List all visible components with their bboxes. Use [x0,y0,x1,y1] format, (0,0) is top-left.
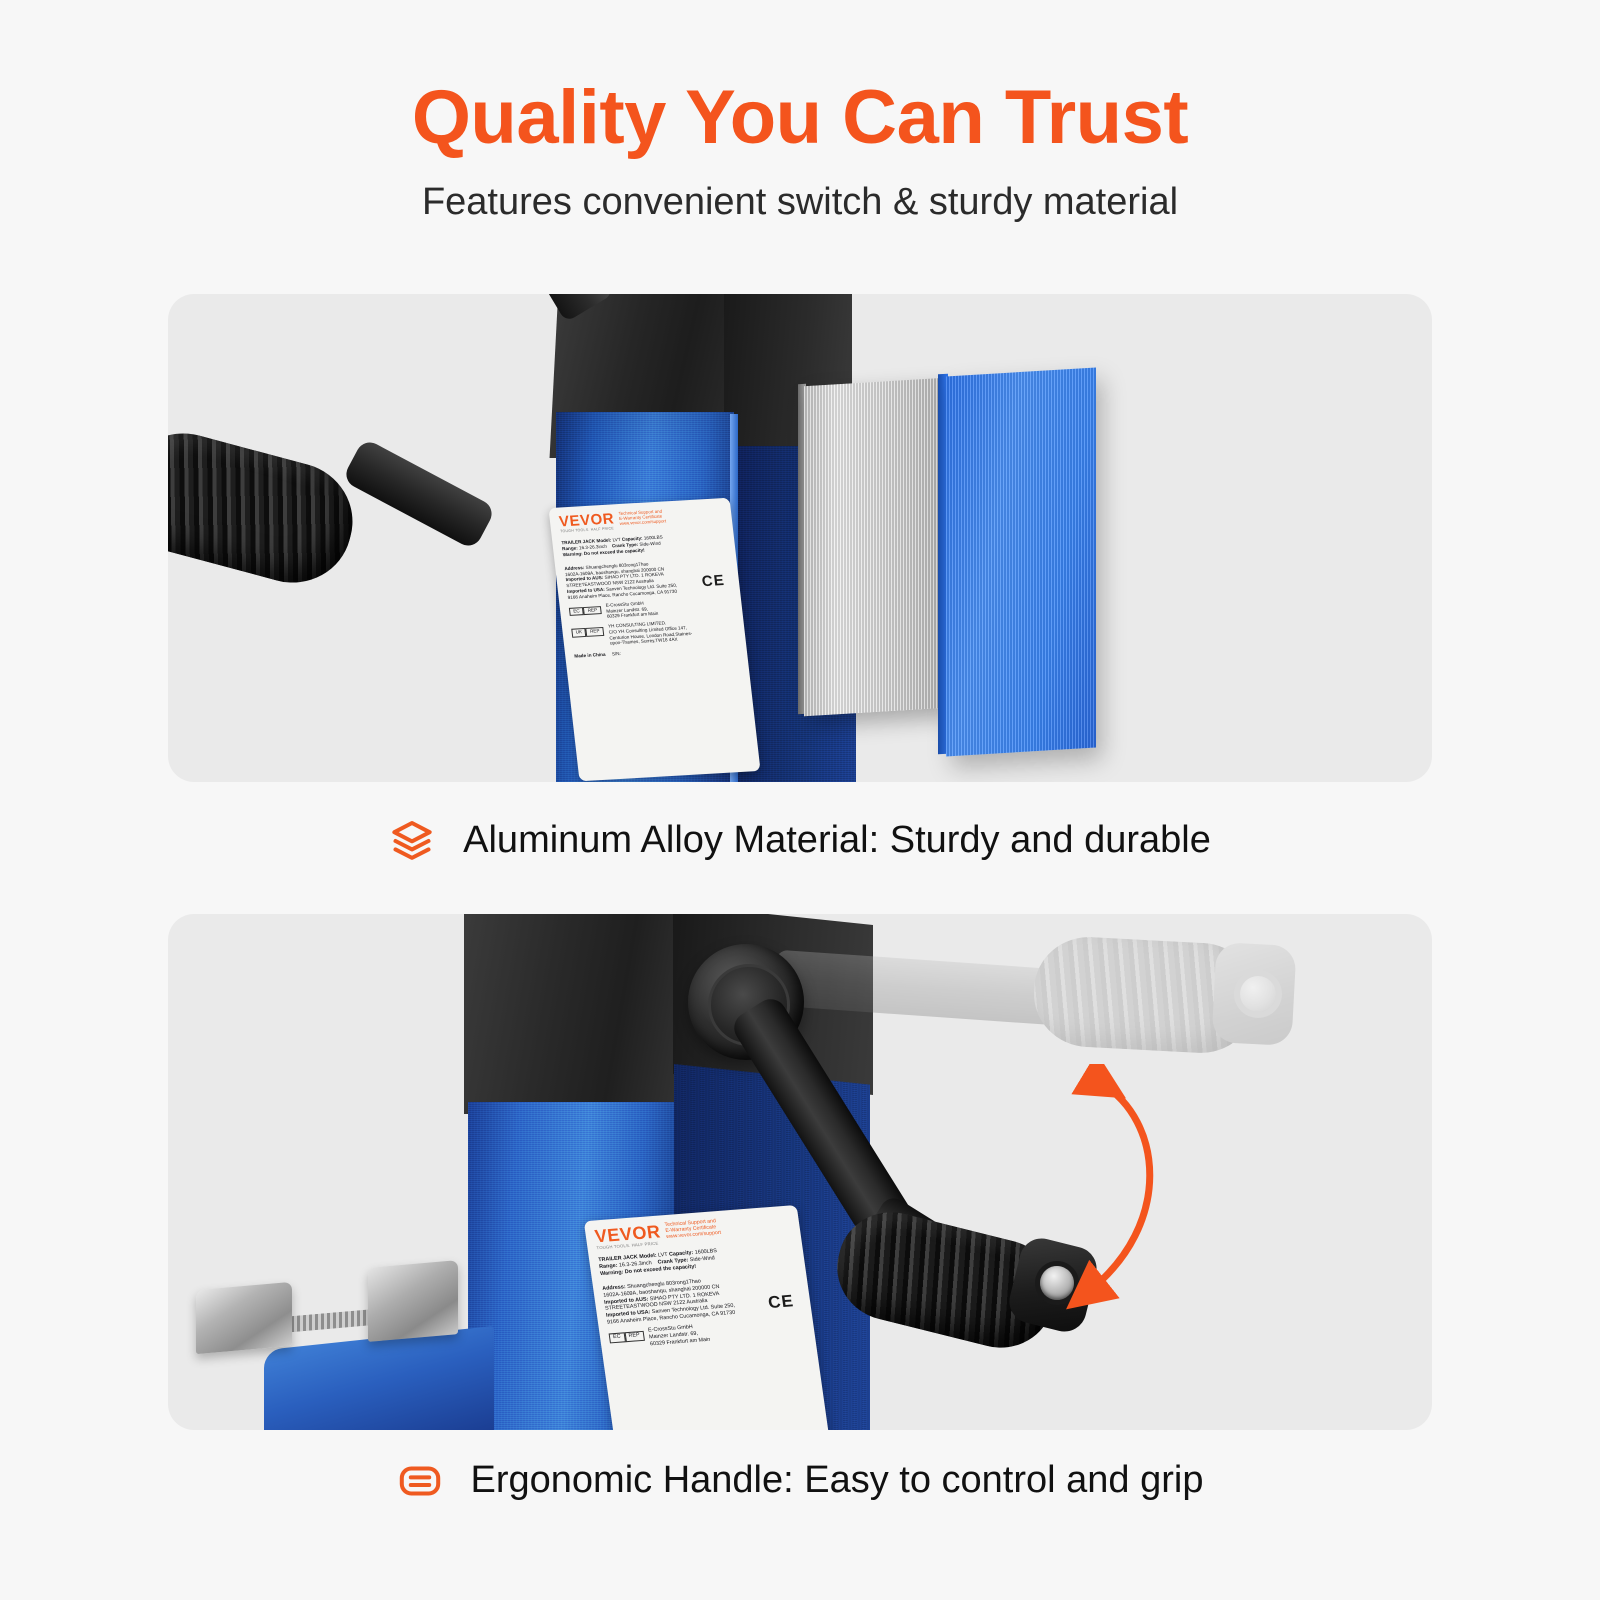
label-header: VEVOR TOUGH TOOLS. HALF PRICE Technical … [558,505,724,533]
blue-anodized-plate [946,368,1096,757]
ec-rep-badge: EC REP [609,1331,645,1343]
warning-label: Warning: [600,1269,624,1277]
page-subtitle: Features convenient switch & sturdy mate… [0,180,1600,226]
uk-badge-cell-1: UK [571,628,586,637]
mounting-bracket-right [368,1260,458,1342]
mounting-bracket-left [196,1282,292,1354]
uk-rep-row: UK REP YH CONSULTING LIMITED. C/O YH Con… [571,616,738,648]
feature-caption-text: Aluminum Alloy Material: Sturdy and dura… [463,818,1211,864]
uk-badge-cell-2: REP [586,627,604,637]
feature-caption-text: Ergonomic Handle: Easy to control and gr… [471,1458,1204,1504]
aluminum-plate [804,378,946,716]
model-label: Model: [596,537,611,543]
model-value: LVT [612,537,621,542]
jack-black-top-cap [464,914,678,1114]
ec-rep-address: E-CrossStu GmbH Mainzer Landstr. 69, 603… [605,600,658,620]
ec-badge-cell-1: EC [609,1332,626,1343]
page-title: Quality You Can Trust [0,78,1600,158]
serial-label: S/N: [612,651,622,656]
product-spec-label: VEVOR TOUGH TOOLS. HALF PRICE Technical … [548,498,760,782]
address-label: Address: [564,565,584,571]
ce-mark-icon: CE [701,572,726,590]
header: Quality You Can Trust Features convenien… [0,0,1600,225]
product-photo-aluminum: VEVOR TOUGH TOOLS. HALF PRICE Technical … [168,294,1432,782]
ergonomic-handle-photo: VEVOR TOUGH TOOLS. HALF PRICE Technical … [168,914,1432,1430]
ec-rep-badge: EC REP [569,606,602,616]
made-in-text: Made in China [574,652,606,659]
label-brand-block: VEVOR TOUGH TOOLS. HALF PRICE [594,1223,663,1251]
label-spec-block: TRAILER JACK Model: LVT Capacity: 1600LB… [561,531,727,558]
ec-badge-cell-2: REP [624,1331,644,1342]
ghost-grip-bolt [1240,976,1276,1012]
aluminum-alloy-photo: VEVOR TOUGH TOOLS. HALF PRICE Technical … [168,294,1432,782]
crank-value: Side-Wind [639,541,661,547]
crank-value: Side-Wind [689,1255,715,1263]
uk-rep-badge: UK REP [571,627,604,637]
layers-icon [389,818,435,864]
rotation-motion-arrow-icon [1058,1064,1258,1314]
ec-badge-cell-2: REP [583,606,601,616]
label-support-block: Technical Support and E-Warranty Certifi… [618,508,666,526]
ec-rep-address: E-CrossStu GmbH Mainzer Landstr. 69, 603… [648,1323,711,1348]
label-brand-block: VEVOR TOUGH TOOLS. HALF PRICE [558,511,615,533]
ce-mark-icon: CE [767,1291,795,1313]
product-spec-label: VEVOR TOUGH TOOLS. HALF PRICE Technical … [584,1205,829,1430]
model-value: LVT [658,1252,668,1259]
feature-caption-aluminum: Aluminum Alloy Material: Sturdy and dura… [0,808,1600,874]
uk-rep-address: YH CONSULTING LIMITED. C/O YH Consulting… [608,619,693,647]
crank-arm-lower [342,438,497,551]
label-support-block: Technical Support and E-Warranty Certifi… [664,1218,721,1240]
crank-ribbed-grip [168,420,366,596]
ec-badge-cell-1: EC [569,607,584,616]
warning-label: Warning: [563,551,583,557]
blue-mounting-plate [264,1326,494,1430]
product-photo-handle: VEVOR TOUGH TOOLS. HALF PRICE Technical … [168,914,1432,1430]
handle-bars-icon [397,1458,443,1504]
feature-caption-handle: Ergonomic Handle: Easy to control and gr… [0,1448,1600,1514]
